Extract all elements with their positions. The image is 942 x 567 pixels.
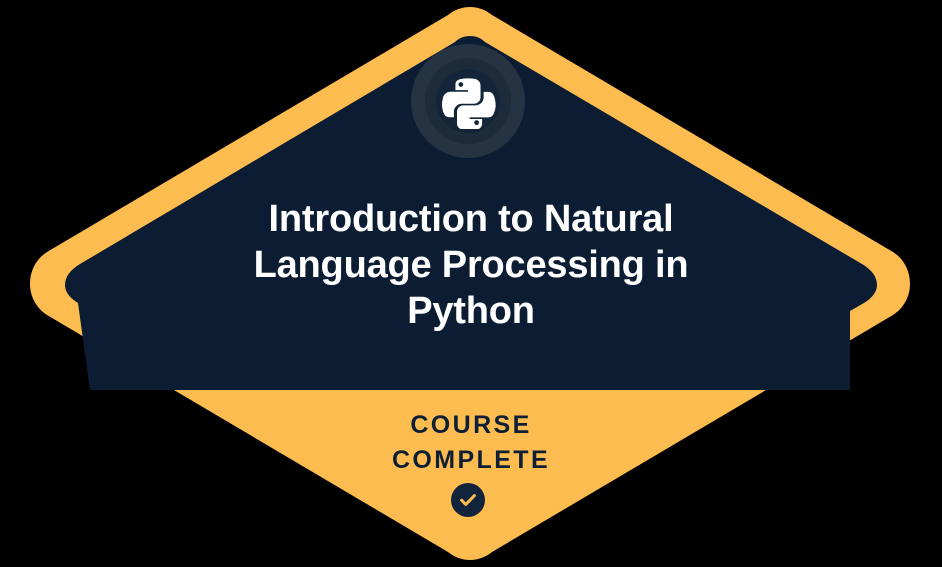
emblem-container [411,44,525,158]
check-circle-icon [451,483,485,517]
check-mark-glyph [458,490,478,510]
course-title: Introduction to Natural Language Process… [131,196,811,334]
course-title-line-1: Introduction to Natural [131,196,811,242]
status-label-line-1: COURSE [231,408,711,443]
status-label: COURSE COMPLETE [231,408,711,478]
course-title-line-3: Python [131,288,811,334]
course-title-line-2: Language Processing in [131,242,811,288]
status-label-line-2: COMPLETE [231,443,711,478]
python-logo-icon [440,73,496,129]
course-completion-badge: Introduction to Natural Language Process… [0,0,942,567]
